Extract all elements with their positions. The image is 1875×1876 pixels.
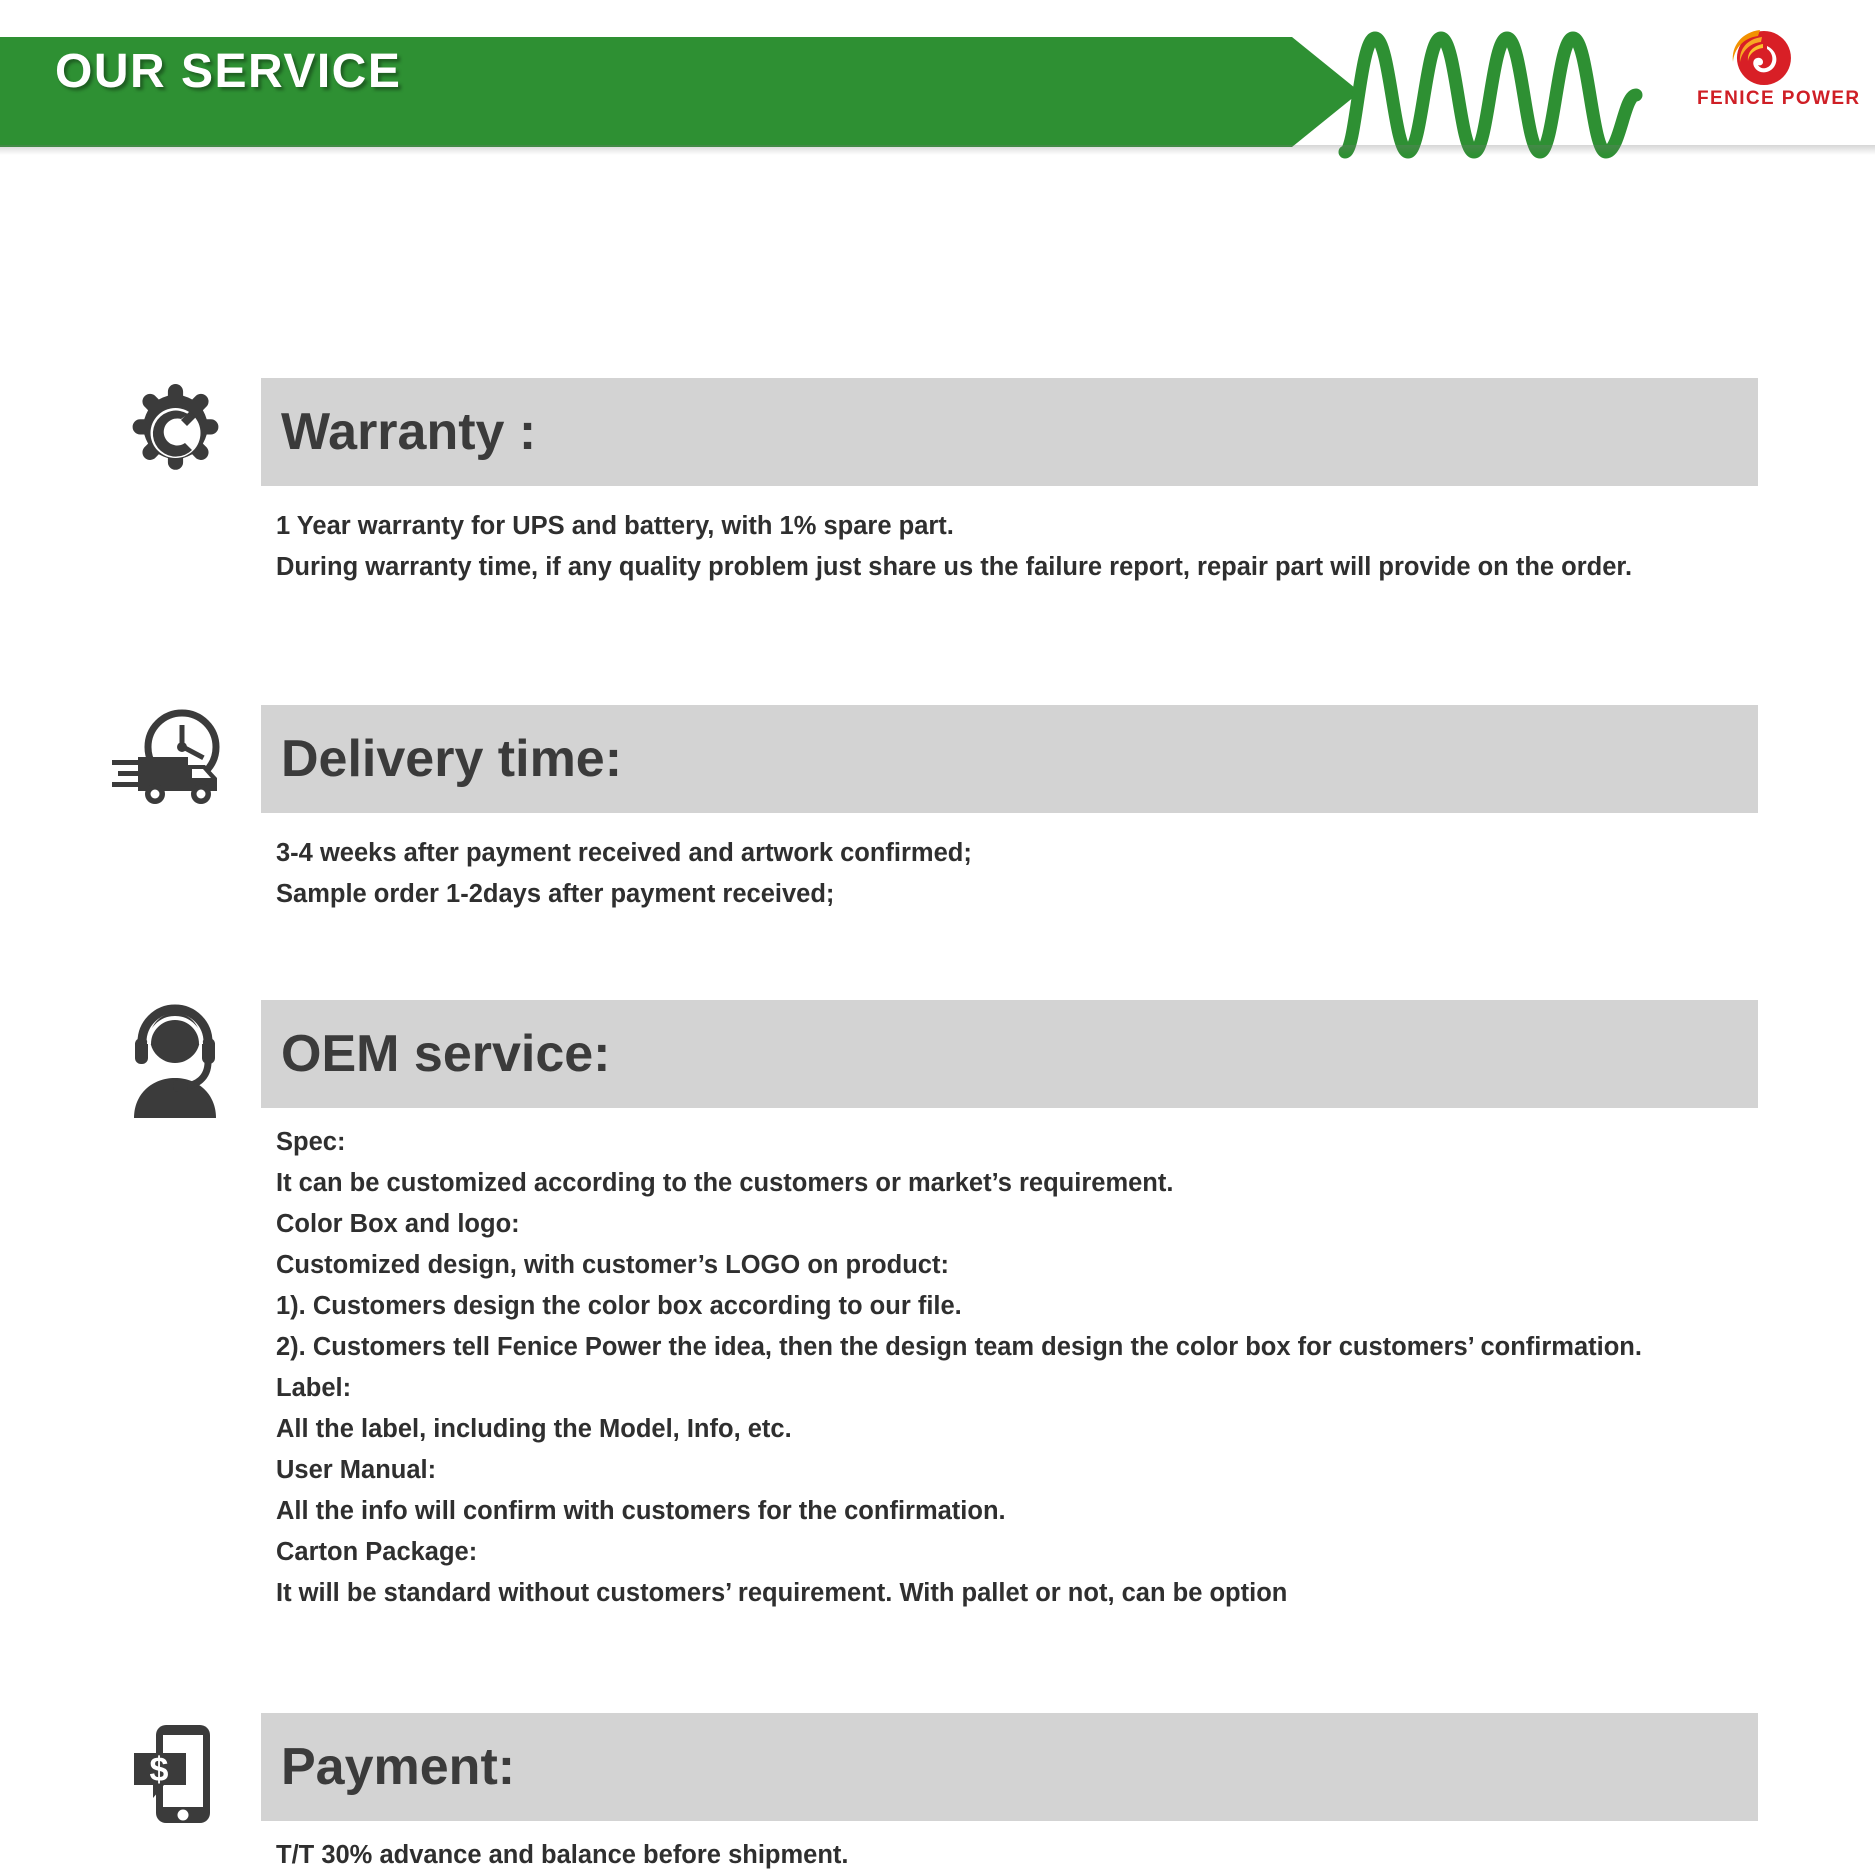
section-delivery-time-title-bar: Delivery time: [261, 705, 1758, 813]
section-warranty-header: Warranty : [0, 378, 1875, 478]
oem-line-2: It can be customized according to the cu… [276, 1163, 1776, 1204]
fenice-power-logo-icon [1722, 28, 1806, 92]
page-title: OUR SERVICE [55, 44, 401, 99]
section-warranty-title: Warranty : [281, 402, 536, 462]
section-oem-service-header: OEM service: [0, 1000, 1875, 1100]
oem-line-10: All the info will confirm with customers… [276, 1491, 1776, 1532]
mobile-payment-icon: $ [128, 1721, 248, 1836]
oem-line-12: It will be standard without customers’ r… [276, 1573, 1776, 1614]
section-oem-service-title: OEM service: [281, 1024, 611, 1084]
oem-line-3: Color Box and logo: [276, 1204, 1776, 1245]
oem-line-9: User Manual: [276, 1450, 1776, 1491]
oem-line-11: Carton Package: [276, 1532, 1776, 1573]
oem-line-8: All the label, including the Model, Info… [276, 1409, 1776, 1450]
section-payment-body: T/T 30% advance and balance before shipm… [276, 1835, 1776, 1876]
brand-name-label: FENICE POWER [1697, 88, 1861, 110]
section-payment-title: Payment: [281, 1737, 515, 1797]
section-oem-service-title-bar: OEM service: [261, 1000, 1758, 1108]
oem-line-6: 2). Customers tell Fenice Power the idea… [276, 1327, 1776, 1368]
section-payment-header: $ Payment: [0, 1713, 1875, 1813]
header-shadow-divider [0, 145, 1875, 155]
section-delivery-time-title: Delivery time: [281, 729, 622, 789]
section-warranty: Warranty : 1 Year warranty for UPS and b… [0, 378, 1875, 478]
oem-line-4: Customized design, with customer’s LOGO … [276, 1245, 1776, 1286]
sine-wave-icon [1345, 38, 1636, 152]
payment-line-1: T/T 30% advance and balance before shipm… [276, 1835, 1776, 1876]
gear-wrench-icon [118, 378, 238, 493]
oem-line-7: Label: [276, 1368, 1776, 1409]
delivery-truck-clock-icon [110, 705, 230, 820]
section-oem-service-body: Spec: It can be customized according to … [276, 1122, 1776, 1614]
section-delivery-time-body: 3-4 weeks after payment received and art… [276, 833, 1776, 915]
section-delivery-time-header: Delivery time: [0, 705, 1875, 805]
delivery-line-2: Sample order 1-2days after payment recei… [276, 874, 1776, 915]
section-payment-title-bar: Payment: [261, 1713, 1758, 1821]
oem-line-1: Spec: [276, 1122, 1776, 1163]
section-warranty-title-bar: Warranty : [261, 378, 1758, 486]
section-oem-service: OEM service: Spec: It can be customized … [0, 1000, 1875, 1100]
section-delivery-time: Delivery time: 3-4 weeks after payment r… [0, 705, 1875, 805]
warranty-line-2: During warranty time, if any quality pro… [276, 547, 1776, 588]
svg-text:$: $ [150, 1751, 169, 1789]
section-payment: $ Payment: T/T 30% advance and balance b… [0, 1713, 1875, 1813]
section-warranty-body: 1 Year warranty for UPS and battery, wit… [276, 506, 1776, 588]
delivery-line-1: 3-4 weeks after payment received and art… [276, 833, 1776, 874]
page-header: OUR SERVICE FENICE POWER [0, 0, 1875, 160]
headset-support-icon [118, 1000, 238, 1115]
warranty-line-1: 1 Year warranty for UPS and battery, wit… [276, 506, 1776, 547]
oem-line-5: 1). Customers design the color box accor… [276, 1286, 1776, 1327]
